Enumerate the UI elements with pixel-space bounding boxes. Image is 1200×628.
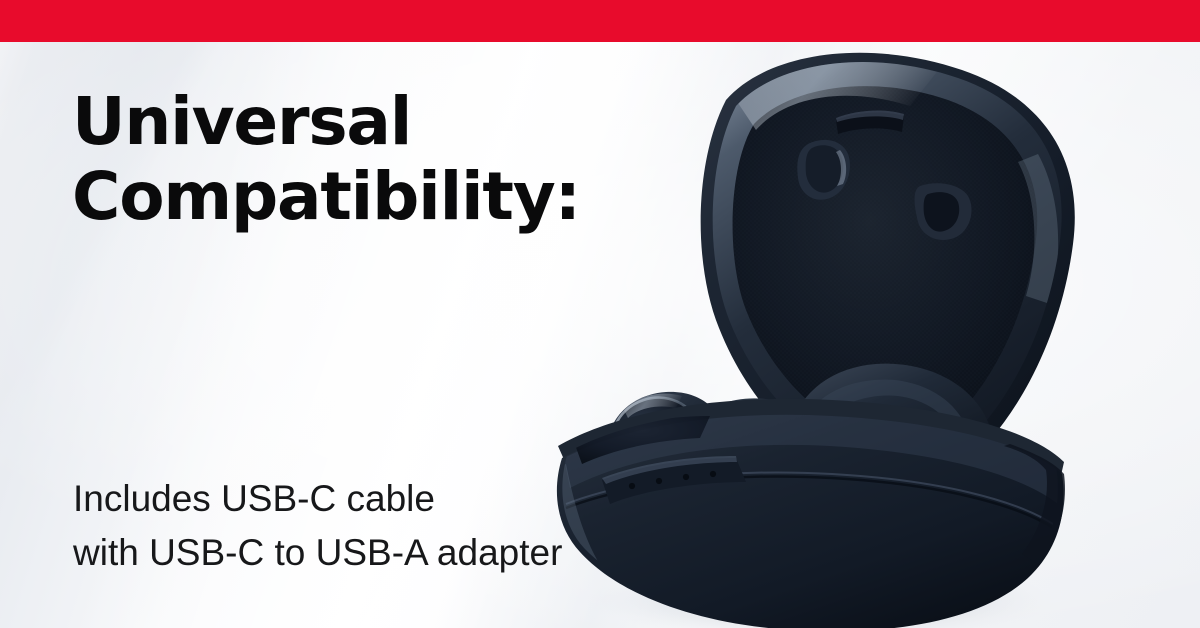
marketing-banner: Universal Compatibility: Includes USB-C …	[0, 0, 1200, 628]
page-title: Universal Compatibility:	[72, 84, 672, 234]
subtitle-text: Includes USB-C cable with USB-C to USB-A…	[73, 472, 693, 580]
led-dot-4	[710, 471, 716, 477]
